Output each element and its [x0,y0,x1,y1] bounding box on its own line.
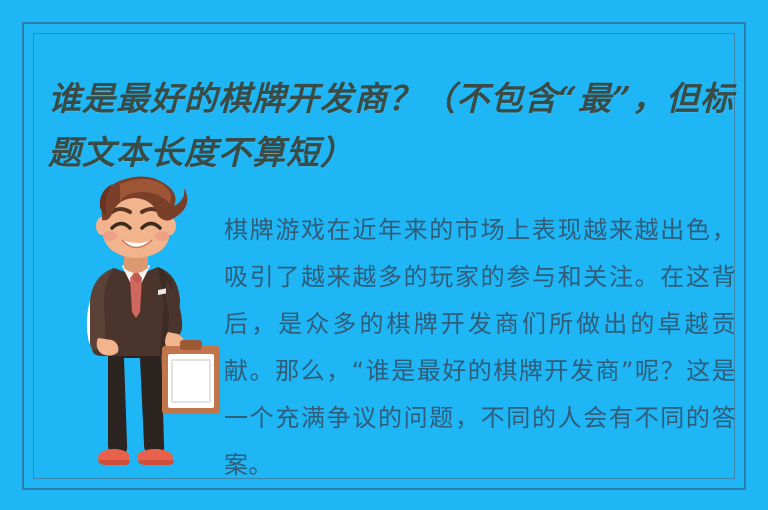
cheek-right [155,231,169,241]
body-paragraph: 棋牌游戏在近年来的市场上表现越来越出色，吸引了越来越多的玩家的参与和关注。在这背… [224,207,736,489]
page-title: 谁是最好的棋牌开发商？（不包含“最”，但标题文本长度不算短） [48,72,738,179]
businessman-illustration [62,172,227,477]
poster-canvas: 谁是最好的棋牌开发商？（不包含“最”，但标题文本长度不算短） [0,0,768,510]
cheek-left [103,231,117,241]
clipboard [162,340,220,414]
pants [108,340,164,453]
